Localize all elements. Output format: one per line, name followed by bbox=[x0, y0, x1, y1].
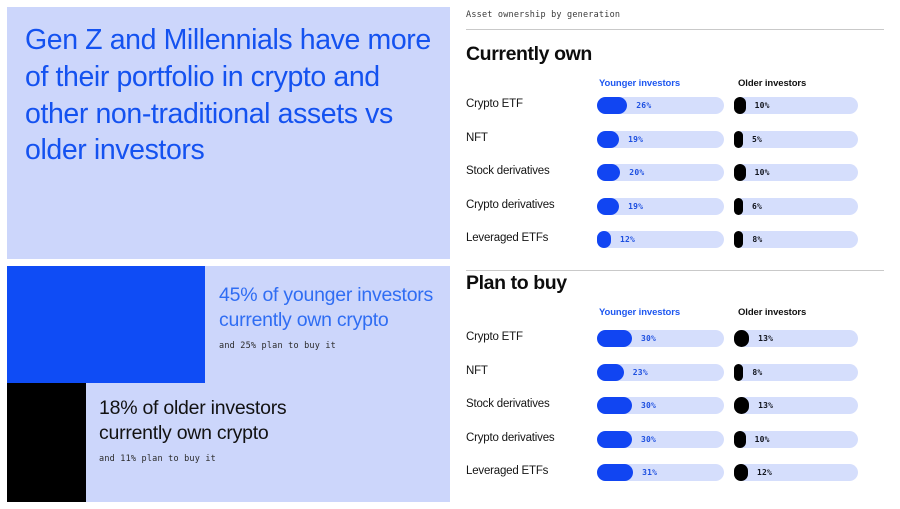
stat-card-younger-text: 45% of younger investors currently own c… bbox=[219, 283, 441, 351]
headline-block: Gen Z and Millennials have more of their… bbox=[7, 7, 450, 259]
bar-row-label: NFT bbox=[466, 365, 488, 377]
legend-item-younger: Younger investors bbox=[599, 78, 680, 89]
bar-value-younger: 30% bbox=[641, 330, 656, 347]
bar-value-older: 10% bbox=[755, 431, 770, 448]
bar-group-older: 13% bbox=[734, 397, 858, 414]
legend-item-older: Older investors bbox=[738, 307, 806, 318]
bar-group-older: 10% bbox=[734, 97, 858, 114]
bar-fill-older bbox=[734, 231, 743, 248]
legend-currently-own: Younger investors Older investors bbox=[457, 78, 900, 90]
bar-group-younger: 30% bbox=[597, 397, 724, 414]
bar-value-older: 10% bbox=[755, 97, 770, 114]
color-swatch-black bbox=[7, 383, 86, 502]
bar-row-label: Crypto ETF bbox=[466, 98, 523, 110]
bar-fill-older bbox=[734, 364, 743, 381]
section-title-plan-to-buy: Plan to buy bbox=[466, 272, 567, 295]
bar-group-older: 8% bbox=[734, 231, 858, 248]
bar-group-older: 5% bbox=[734, 131, 858, 148]
bar-fill-older bbox=[734, 397, 749, 414]
bar-value-younger: 31% bbox=[642, 464, 657, 481]
stat-headline-younger: 45% of younger investors currently own c… bbox=[219, 283, 441, 334]
bar-fill-older bbox=[734, 431, 746, 448]
infographic-root: Gen Z and Millennials have more of their… bbox=[0, 0, 900, 509]
stat-sub-younger: and 25% plan to buy it bbox=[219, 341, 441, 351]
bar-row: Crypto derivatives30%10% bbox=[457, 428, 900, 462]
bar-fill-younger bbox=[597, 231, 611, 248]
bar-row: Crypto ETF26%10% bbox=[457, 94, 900, 128]
bar-group-older: 6% bbox=[734, 198, 858, 215]
divider-middle bbox=[466, 270, 884, 271]
bar-row-label: Leveraged ETFs bbox=[466, 465, 548, 477]
legend-item-younger: Younger investors bbox=[599, 307, 680, 318]
bar-value-younger: 20% bbox=[629, 164, 644, 181]
bar-group-older: 12% bbox=[734, 464, 858, 481]
bar-track bbox=[597, 231, 724, 248]
bar-row-label: Stock derivatives bbox=[466, 165, 550, 177]
bar-track bbox=[734, 97, 858, 114]
bar-value-older: 13% bbox=[758, 330, 773, 347]
bar-fill-older bbox=[734, 131, 743, 148]
bar-group-younger: 19% bbox=[597, 198, 724, 215]
bar-value-older: 13% bbox=[758, 397, 773, 414]
legend-item-older: Older investors bbox=[738, 78, 806, 89]
stat-card-older-text: 18% of older investors currently own cry… bbox=[99, 396, 339, 464]
bar-group-younger: 12% bbox=[597, 231, 724, 248]
left-panel: Gen Z and Millennials have more of their… bbox=[0, 0, 457, 509]
divider-top bbox=[466, 29, 884, 30]
bar-value-younger: 19% bbox=[628, 198, 643, 215]
bar-value-older: 5% bbox=[752, 131, 762, 148]
bar-group-younger: 23% bbox=[597, 364, 724, 381]
page-title: Gen Z and Millennials have more of their… bbox=[25, 22, 437, 169]
stat-sub-older: and 11% plan to buy it bbox=[99, 454, 339, 464]
bar-track bbox=[734, 397, 858, 414]
bar-fill-older bbox=[734, 330, 749, 347]
bar-group-younger: 31% bbox=[597, 464, 724, 481]
bar-value-younger: 26% bbox=[636, 97, 651, 114]
bar-row: Crypto ETF30%13% bbox=[457, 327, 900, 361]
bar-value-older: 8% bbox=[752, 364, 762, 381]
bar-fill-younger bbox=[597, 131, 619, 148]
bar-row-label: Crypto derivatives bbox=[466, 199, 554, 211]
bar-row-label: Leveraged ETFs bbox=[466, 232, 548, 244]
bar-group-older: 10% bbox=[734, 164, 858, 181]
bar-track bbox=[734, 330, 858, 347]
bar-value-older: 6% bbox=[752, 198, 762, 215]
bar-track bbox=[734, 464, 858, 481]
bar-fill-younger bbox=[597, 464, 633, 481]
bar-value-younger: 19% bbox=[628, 131, 643, 148]
bar-row: NFT19%5% bbox=[457, 128, 900, 162]
bar-fill-older bbox=[734, 464, 748, 481]
bar-value-older: 8% bbox=[752, 231, 762, 248]
bar-group-older: 8% bbox=[734, 364, 858, 381]
bar-value-younger: 30% bbox=[641, 397, 656, 414]
bar-rows-plan-to-buy: Crypto ETF30%13%NFT23%8%Stock derivative… bbox=[457, 327, 900, 495]
bar-value-younger: 12% bbox=[620, 231, 635, 248]
bar-group-younger: 20% bbox=[597, 164, 724, 181]
stat-card-older: 18% of older investors currently own cry… bbox=[7, 383, 450, 502]
chart-kicker: Asset ownership by generation bbox=[466, 10, 620, 20]
bar-fill-younger bbox=[597, 397, 632, 414]
bar-rows-currently-own: Crypto ETF26%10%NFT19%5%Stock derivative… bbox=[457, 94, 900, 262]
bar-row-label: Stock derivatives bbox=[466, 398, 550, 410]
bar-group-older: 13% bbox=[734, 330, 858, 347]
bar-fill-younger bbox=[597, 164, 620, 181]
bar-row: Leveraged ETFs31%12% bbox=[457, 461, 900, 495]
bar-fill-younger bbox=[597, 364, 624, 381]
bar-track bbox=[734, 431, 858, 448]
legend-plan-to-buy: Younger investors Older investors bbox=[457, 307, 900, 319]
bar-group-older: 10% bbox=[734, 431, 858, 448]
bar-row: Crypto derivatives19%6% bbox=[457, 195, 900, 229]
bar-fill-younger bbox=[597, 198, 619, 215]
bar-fill-younger bbox=[597, 97, 627, 114]
bar-fill-older bbox=[734, 198, 743, 215]
bar-fill-older bbox=[734, 164, 746, 181]
bar-value-older: 12% bbox=[757, 464, 772, 481]
section-title-currently-own: Currently own bbox=[466, 43, 592, 66]
bar-group-younger: 19% bbox=[597, 131, 724, 148]
color-swatch-blue bbox=[7, 266, 205, 383]
stat-headline-older: 18% of older investors currently own cry… bbox=[99, 396, 339, 447]
bar-value-younger: 23% bbox=[633, 364, 648, 381]
bar-row-label: Crypto ETF bbox=[466, 331, 523, 343]
bar-group-younger: 30% bbox=[597, 330, 724, 347]
stat-card-younger: 45% of younger investors currently own c… bbox=[7, 266, 450, 383]
bar-fill-younger bbox=[597, 431, 632, 448]
bar-row: Stock derivatives20%10% bbox=[457, 161, 900, 195]
bar-track bbox=[734, 164, 858, 181]
bar-group-younger: 30% bbox=[597, 431, 724, 448]
bar-group-younger: 26% bbox=[597, 97, 724, 114]
bar-row: Stock derivatives30%13% bbox=[457, 394, 900, 428]
bar-row-label: Crypto derivatives bbox=[466, 432, 554, 444]
chart-panel: Asset ownership by generation Currently … bbox=[457, 0, 900, 509]
bar-row: NFT23%8% bbox=[457, 361, 900, 395]
bar-value-older: 10% bbox=[755, 164, 770, 181]
bar-row: Leveraged ETFs12%8% bbox=[457, 228, 900, 262]
bar-fill-younger bbox=[597, 330, 632, 347]
bar-value-younger: 30% bbox=[641, 431, 656, 448]
bar-row-label: NFT bbox=[466, 132, 488, 144]
bar-fill-older bbox=[734, 97, 746, 114]
